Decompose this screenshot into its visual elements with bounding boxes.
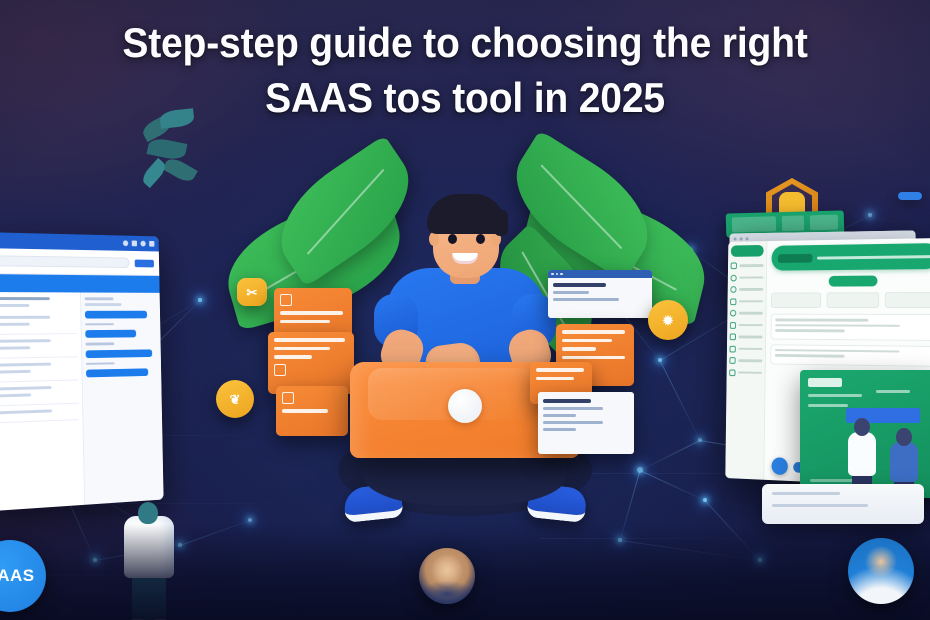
chat-bubble[interactable] [85,330,136,338]
sidebar-item-9[interactable] [729,357,762,364]
calendar-icon [730,345,736,352]
avatar-bottom-center[interactable] [419,548,475,604]
page-title: Step-step guide to choosing the right SA… [33,16,898,125]
chart-icon [730,298,736,305]
face-photo [848,538,914,604]
share-icon: ❦ [230,393,241,406]
menu-icon[interactable] [149,241,154,247]
bottom-right-slab [762,484,924,524]
table-row[interactable] [0,311,77,335]
sidebar-item-5[interactable] [730,310,763,317]
sidebar-item-8[interactable] [730,345,763,352]
card-icon [280,294,292,306]
chat-fab-icon[interactable] [771,457,787,475]
browser-window-card[interactable] [548,270,652,318]
stat-card[interactable] [884,292,930,308]
title-line-1: Step-step guide to choosing the right [46,16,885,71]
coin-badge[interactable]: ✹ [648,300,688,340]
sidebar-item-7[interactable] [730,333,763,340]
sidebar-item-4[interactable] [730,298,763,305]
white-list-card[interactable] [538,392,634,454]
saas-badge-label: SAAS [0,566,35,586]
left-panel-search-row [0,248,159,276]
chat-bubble[interactable] [86,368,148,377]
target-icon [730,310,736,317]
stat-row [771,292,930,308]
search-input[interactable] [0,255,130,268]
sidebar-item-10[interactable] [729,369,762,376]
chat-bubble[interactable] [86,349,152,358]
left-panel-chat-column [80,292,164,504]
left-panel-table [0,292,84,512]
card-icon [282,392,294,404]
table-row[interactable] [0,380,79,406]
hair [427,194,505,234]
eyebrow-right [474,226,486,229]
cart-icon[interactable] [132,241,137,247]
stat-card[interactable] [827,292,879,308]
laptop-logo-icon [448,389,482,423]
stat-card[interactable] [771,292,822,308]
sidebar-item-2[interactable] [730,274,763,281]
box-icon [730,322,736,329]
hero-image: ✂ ❦ [0,0,930,620]
table-row[interactable] [0,404,79,424]
hero-banner [771,243,930,271]
table-row[interactable] [0,334,78,359]
left-dashboard-panel[interactable] [0,232,164,512]
eye-left [448,234,457,244]
file-icon [730,333,736,340]
eyebrow-left [446,226,458,229]
table-row[interactable] [0,357,78,383]
left-panel-body [0,292,164,512]
card-icon [274,364,286,376]
list-icon [729,369,735,376]
sidebar-item-6[interactable] [730,322,763,329]
sidebar-item-1[interactable] [731,262,764,269]
content-card[interactable] [770,344,930,367]
layers-icon [729,357,735,364]
primary-action-button[interactable] [135,259,154,267]
teal-plant-decoration [138,110,202,218]
top-right-pill-button[interactable] [898,192,922,200]
user-icon[interactable] [140,241,145,247]
coin-icon: ✹ [663,314,674,327]
content-card[interactable] [771,314,930,341]
card-cluster-right: ✹ [530,270,690,460]
eye-right [476,234,485,244]
share-badge[interactable]: ❦ [216,380,254,418]
app-logo [731,245,764,257]
scissors-icon: ✂ [247,286,258,299]
ear-left [429,232,439,246]
chat-bubble[interactable] [85,310,147,318]
sidebar-item-3[interactable] [730,286,763,293]
globe-icon [730,274,736,281]
avatar-bottom-right[interactable] [848,538,914,604]
title-line-2: SAAS tos tool in 2025 [46,71,885,126]
drop-icon [731,262,737,269]
circle-icon [730,286,736,293]
right-panel-sidebar [725,241,767,480]
hero-tag [778,253,813,262]
cta-pill-button[interactable] [829,276,878,287]
face-photo [419,548,475,604]
left-panel-section-header [0,274,160,293]
scissors-badge[interactable]: ✂ [237,278,267,306]
bell-icon[interactable] [123,240,128,246]
